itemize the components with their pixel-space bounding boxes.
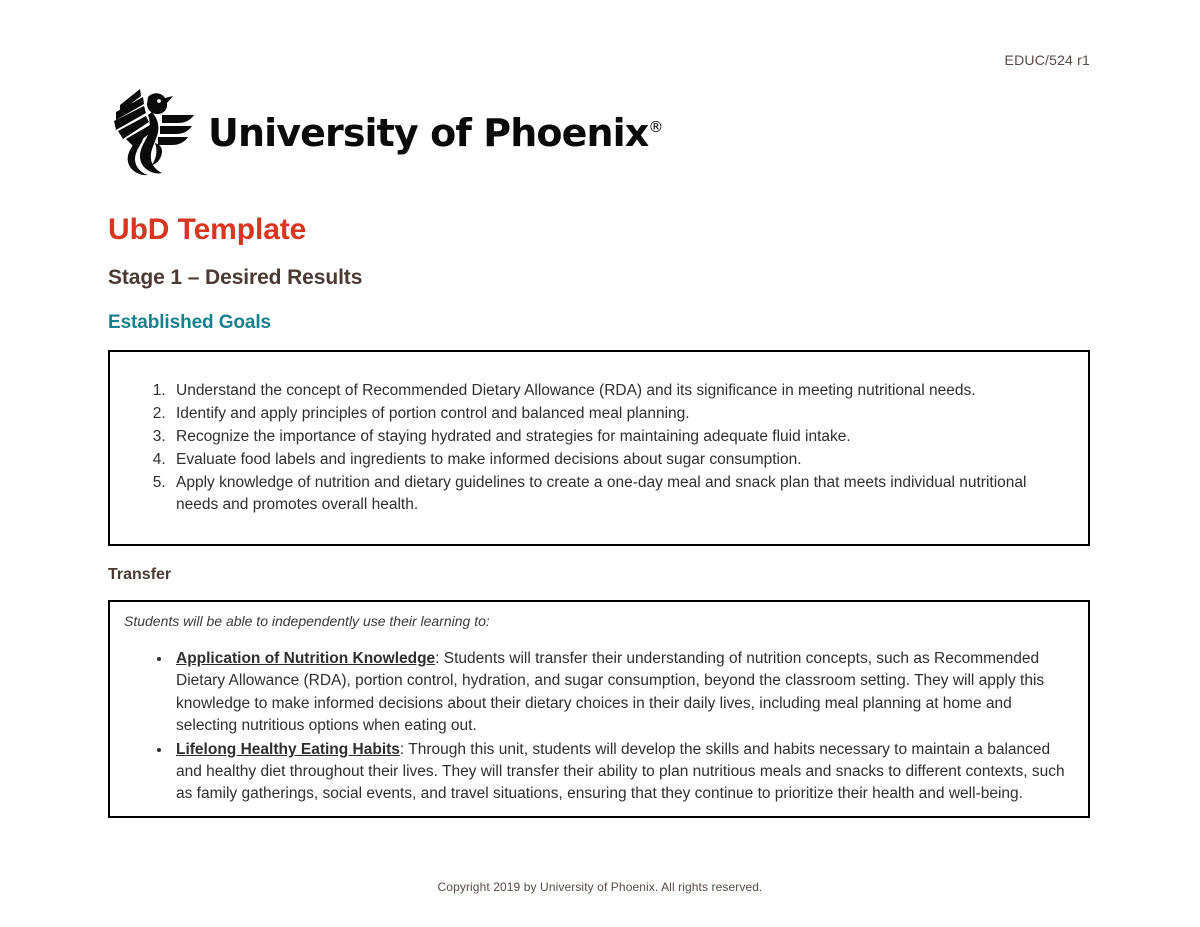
transfer-list: Application of Nutrition Knowledge: Stud… [110, 630, 1088, 805]
list-item: Apply knowledge of nutrition and dietary… [170, 472, 1066, 516]
transfer-heading: Transfer [108, 566, 171, 584]
list-item: Lifelong Healthy Eating Habits: Through … [172, 739, 1066, 805]
transfer-item-lead-in: Application of Nutrition Knowledge [176, 650, 435, 667]
transfer-box: Students will be able to independently u… [108, 600, 1090, 818]
stage-heading: Stage 1 – Desired Results [108, 266, 362, 290]
phoenix-bird-icon [110, 85, 196, 177]
logo-wordmark: University of Phoenix® [208, 114, 663, 152]
footer-copyright: Copyright 2019 by University of Phoenix.… [0, 880, 1200, 894]
established-goals-heading: Established Goals [108, 312, 271, 334]
page-title: UbD Template [108, 213, 306, 246]
list-item: Understand the concept of Recommended Di… [170, 380, 1066, 402]
transfer-intro-text: Students will be able to independently u… [110, 602, 1088, 630]
established-goals-box: Understand the concept of Recommended Di… [108, 350, 1090, 546]
document-code: EDUC/524 r1 [1005, 52, 1090, 68]
registered-trademark-symbol: ® [648, 118, 663, 136]
logo-wordmark-text: University of Phoenix [208, 111, 648, 155]
list-item: Recognize the importance of staying hydr… [170, 426, 1066, 448]
transfer-item-lead-in: Lifelong Healthy Eating Habits [176, 741, 400, 758]
document-page: EDUC/524 r1 [0, 0, 1200, 927]
list-item: Application of Nutrition Knowledge: Stud… [172, 648, 1066, 737]
list-item: Identify and apply principles of portion… [170, 403, 1066, 425]
list-item: Evaluate food labels and ingredients to … [170, 449, 1066, 471]
established-goals-list: Understand the concept of Recommended Di… [110, 352, 1088, 516]
university-logo: University of Phoenix® [110, 83, 663, 178]
